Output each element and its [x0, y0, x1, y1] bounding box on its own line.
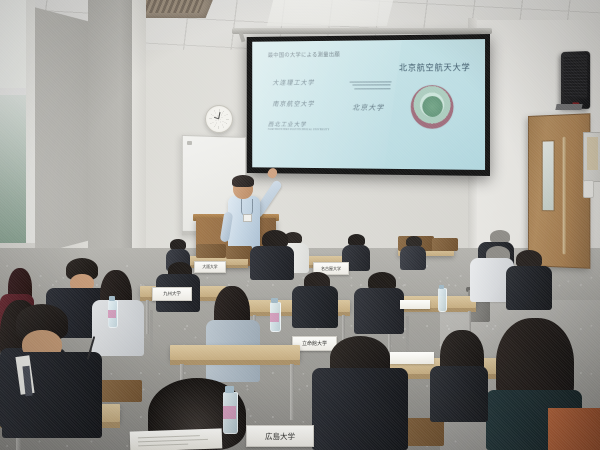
clock-tick-marks — [209, 109, 229, 129]
whiteboard-magnet — [187, 141, 192, 145]
wall-mounted-panel[interactable] — [583, 132, 600, 182]
chair-back — [226, 246, 252, 259]
left-wall-edge — [132, 0, 146, 268]
screen-mount-bar — [232, 28, 492, 34]
chair-back — [196, 244, 226, 258]
torso — [92, 300, 144, 356]
speaker-bracket — [555, 104, 582, 110]
paper-text-line — [138, 439, 208, 442]
projector-screen: 最中国の大学による測量出願 北京航空航天大学 大连理工大学 南京航空大学 西北工… — [247, 34, 490, 176]
nameplate: 大阪大学 — [194, 261, 226, 273]
desk-leg — [290, 364, 294, 420]
torso — [354, 288, 404, 334]
bottle-label — [223, 406, 236, 419]
presenter-id-badge — [243, 214, 252, 222]
speaker-grille — [564, 55, 587, 98]
slide-university-title: 北京航空航天大学 — [399, 61, 470, 73]
bottle-label — [108, 310, 116, 318]
chair-back — [432, 238, 458, 251]
torso — [506, 266, 552, 310]
handout-paper[interactable] — [390, 352, 434, 364]
desk-leg — [146, 300, 149, 334]
wall-clock-icon — [205, 105, 233, 133]
bottle-cap — [225, 386, 234, 393]
presenter-hair — [232, 175, 254, 187]
handout-paper[interactable] — [400, 300, 430, 309]
door-handle[interactable] — [562, 137, 565, 255]
wall-speaker-icon — [561, 51, 590, 109]
wall-phone-icon[interactable] — [583, 180, 594, 198]
nameplate: 広島大学 — [246, 425, 314, 447]
window-glass — [0, 95, 26, 245]
torso — [292, 286, 338, 328]
left-wall-column — [88, 0, 134, 265]
skirt — [548, 408, 600, 450]
paper-text-line — [138, 444, 188, 447]
torso — [430, 366, 488, 422]
ceiling-light-panel — [267, 0, 393, 26]
bottle-cap — [439, 285, 444, 289]
projected-slide: 最中国の大学による測量出願 北京航空航天大学 大连理工大学 南京航空大学 西北工… — [252, 39, 485, 170]
chair-frame — [150, 310, 153, 350]
classroom-door[interactable] — [528, 113, 590, 269]
window-frame-vertical — [26, 0, 35, 250]
lecture-room-photo: 最中国の大学による測量出願 北京航空航天大学 大连理工大学 南京航空大学 西北工… — [0, 0, 600, 450]
bottle-cap — [271, 298, 278, 303]
chair-back — [96, 380, 142, 402]
torso — [250, 246, 294, 280]
buaa-emblem-icon — [411, 85, 454, 129]
screen-glare — [252, 39, 403, 170]
bottle-label — [270, 313, 279, 322]
desk-edge — [170, 360, 300, 365]
water-bottle[interactable] — [438, 288, 447, 312]
torso — [312, 368, 408, 450]
torso — [400, 246, 426, 270]
paper-text-line — [138, 435, 200, 438]
door-window — [542, 140, 555, 211]
desk — [170, 345, 300, 360]
nameplate: 九州大学 — [152, 287, 192, 301]
handout-paper[interactable] — [130, 428, 223, 450]
bottle-cap — [109, 296, 115, 301]
